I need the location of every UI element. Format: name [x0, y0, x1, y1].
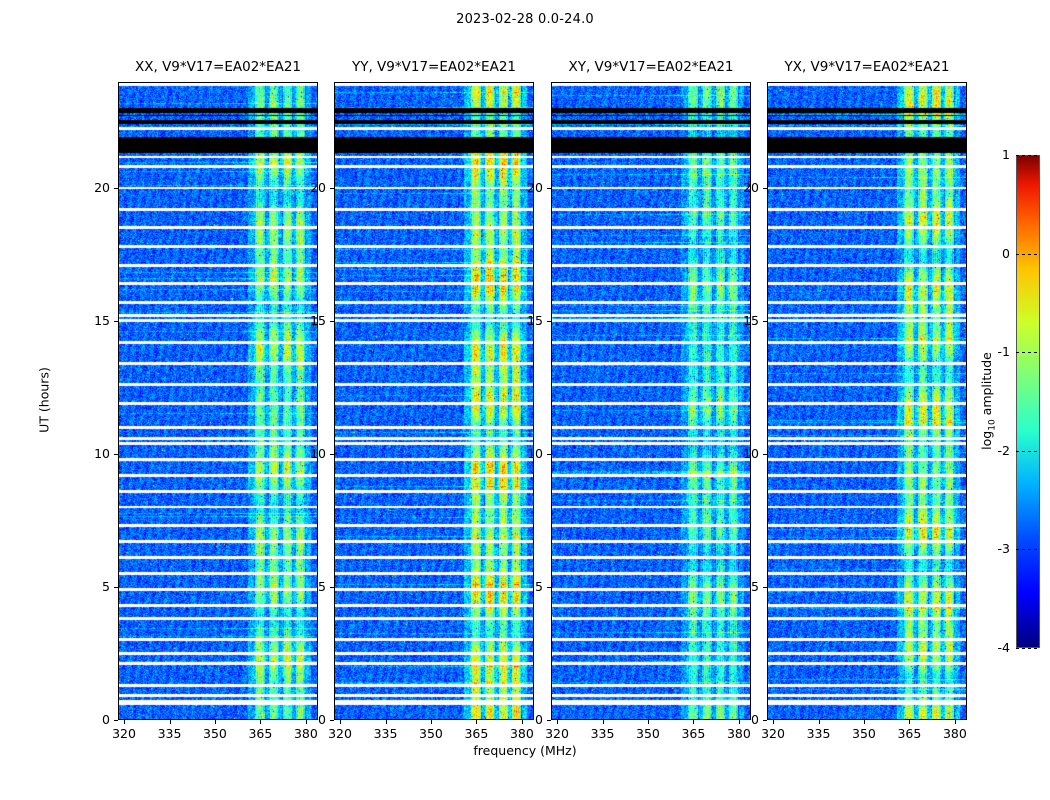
y-tick-label-1-1: 5	[292, 579, 326, 594]
x-tick-label-1-0: 320	[320, 726, 360, 741]
colorbar-tick-2	[1016, 352, 1040, 353]
y-tick-2-4	[547, 188, 551, 189]
y-tick-label-2-1: 5	[509, 579, 543, 594]
y-tick-label-1-2: 10	[292, 446, 326, 461]
y-tick-label-0-4: 20	[76, 180, 110, 195]
y-tick-label-0-1: 5	[76, 579, 110, 594]
colorbar-tick-label-4: -3	[974, 541, 1010, 556]
x-tick-label-1-3: 365	[456, 726, 496, 741]
y-tick-label-2-4: 20	[509, 180, 543, 195]
x-tick-label-2-0: 320	[537, 726, 577, 741]
x-tick-0-1	[170, 720, 171, 724]
y-tick-1-0	[330, 720, 334, 721]
x-tick-label-0-2: 350	[195, 726, 235, 741]
colorbar-label-tail: amplitude	[979, 352, 994, 419]
waterfall-image-yy	[335, 83, 534, 720]
x-tick-2-2	[648, 720, 649, 724]
colorbar-tick-label-2: -1	[974, 344, 1010, 359]
y-tick-0-0	[114, 720, 118, 721]
figure-suptitle: 2023-02-28 0.0-24.0	[0, 12, 1050, 27]
y-tick-3-1	[763, 587, 767, 588]
panel-title-xx: XX, V9*V17=EA02*EA21	[118, 59, 318, 77]
y-tick-label-1-0: 0	[292, 712, 326, 727]
x-tick-3-4	[955, 720, 956, 724]
y-axis-label: UT (hours)	[37, 367, 52, 433]
colorbar-tick-0	[1016, 155, 1040, 156]
y-tick-label-0-3: 15	[76, 313, 110, 328]
x-tick-1-1	[386, 720, 387, 724]
x-tick-0-2	[215, 720, 216, 724]
waterfall-panel-xy[interactable]	[551, 82, 751, 720]
x-tick-3-1	[819, 720, 820, 724]
x-tick-label-0-1: 335	[150, 726, 190, 741]
x-tick-1-3	[476, 720, 477, 724]
waterfall-image-yx	[768, 83, 967, 720]
x-tick-label-1-2: 350	[411, 726, 451, 741]
colorbar[interactable]	[1016, 155, 1040, 648]
y-tick-label-3-1: 5	[725, 579, 759, 594]
y-tick-label-3-3: 15	[725, 313, 759, 328]
x-tick-3-3	[909, 720, 910, 724]
colorbar-tick-3	[1016, 451, 1040, 452]
x-tick-3-2	[864, 720, 865, 724]
y-tick-label-3-2: 10	[725, 446, 759, 461]
x-tick-label-2-3: 365	[673, 726, 713, 741]
y-tick-0-1	[114, 587, 118, 588]
x-tick-0-3	[260, 720, 261, 724]
x-tick-label-3-2: 350	[844, 726, 884, 741]
x-axis-label: frequency (MHz)	[0, 743, 1050, 758]
x-tick-label-0-3: 365	[240, 726, 280, 741]
y-tick-label-0-0: 0	[76, 712, 110, 727]
x-tick-label-3-3: 365	[889, 726, 929, 741]
y-tick-0-4	[114, 188, 118, 189]
waterfall-panel-yy[interactable]	[334, 82, 534, 720]
x-tick-label-2-2: 350	[628, 726, 668, 741]
x-tick-label-1-1: 335	[366, 726, 406, 741]
x-tick-2-3	[693, 720, 694, 724]
x-tick-label-2-1: 335	[583, 726, 623, 741]
x-tick-3-0	[773, 720, 774, 724]
waterfall-panel-yx[interactable]	[767, 82, 967, 720]
panel-title-xy: XY, V9*V17=EA02*EA21	[551, 59, 751, 77]
y-tick-label-2-2: 10	[509, 446, 543, 461]
x-tick-2-0	[557, 720, 558, 724]
colorbar-tick-4	[1016, 549, 1040, 550]
waterfall-image-xx	[119, 83, 318, 720]
y-tick-1-2	[330, 454, 334, 455]
x-tick-label-0-0: 320	[104, 726, 144, 741]
colorbar-label: log10 amplitude	[979, 352, 998, 450]
y-tick-3-4	[763, 188, 767, 189]
colorbar-label-sub: 10	[987, 419, 997, 430]
panel-title-yx: YX, V9*V17=EA02*EA21	[767, 59, 967, 77]
x-tick-label-3-0: 320	[753, 726, 793, 741]
y-tick-0-3	[114, 321, 118, 322]
y-tick-0-2	[114, 454, 118, 455]
y-tick-1-4	[330, 188, 334, 189]
x-tick-0-0	[124, 720, 125, 724]
y-tick-2-2	[547, 454, 551, 455]
y-tick-label-3-4: 20	[725, 180, 759, 195]
y-tick-1-3	[330, 321, 334, 322]
y-tick-3-2	[763, 454, 767, 455]
y-tick-label-1-4: 20	[292, 180, 326, 195]
y-tick-3-0	[763, 720, 767, 721]
x-tick-label-3-1: 335	[799, 726, 839, 741]
y-tick-2-1	[547, 587, 551, 588]
x-tick-1-2	[431, 720, 432, 724]
x-tick-2-1	[603, 720, 604, 724]
colorbar-tick-label-3: -2	[974, 443, 1010, 458]
colorbar-tick-label-1: 0	[974, 246, 1010, 261]
y-tick-label-0-2: 10	[76, 446, 110, 461]
y-tick-1-1	[330, 587, 334, 588]
x-tick-label-3-4: 380	[935, 726, 975, 741]
panel-title-yy: YY, V9*V17=EA02*EA21	[334, 59, 534, 77]
colorbar-tick-label-5: -4	[974, 640, 1010, 655]
y-tick-label-3-0: 0	[725, 712, 759, 727]
y-tick-label-2-3: 15	[509, 313, 543, 328]
y-tick-3-3	[763, 321, 767, 322]
colorbar-tick-1	[1016, 254, 1040, 255]
y-tick-2-3	[547, 321, 551, 322]
x-tick-label-1-4: 380	[502, 726, 542, 741]
waterfall-panel-xx[interactable]	[118, 82, 318, 720]
y-tick-2-0	[547, 720, 551, 721]
x-tick-1-0	[340, 720, 341, 724]
colorbar-tick-5	[1016, 648, 1040, 649]
y-tick-label-2-0: 0	[509, 712, 543, 727]
waterfall-image-xy	[552, 83, 751, 720]
colorbar-tick-label-0: 1	[974, 147, 1010, 162]
y-tick-label-1-3: 15	[292, 313, 326, 328]
